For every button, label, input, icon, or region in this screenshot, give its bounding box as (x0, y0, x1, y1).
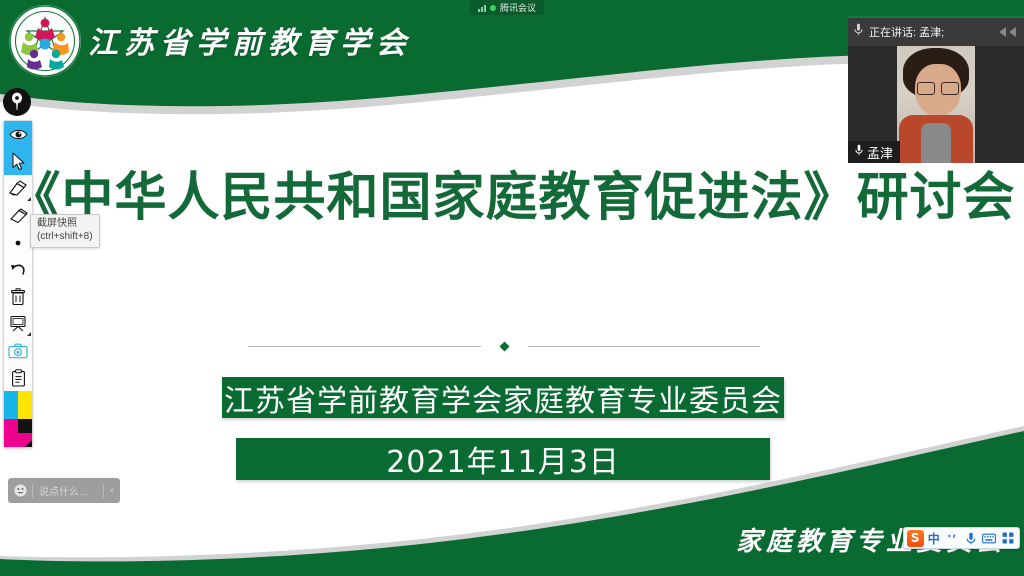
tencent-meeting-label: 腾讯会议 (500, 1, 536, 14)
speaking-now-label: 正在讲话: 孟津; (869, 24, 944, 40)
color-swatch-yellow[interactable] (18, 391, 32, 419)
double-chevron-left-icon[interactable] (996, 26, 1018, 38)
highlighter-pen-icon[interactable] (4, 175, 32, 202)
smiley-face-icon[interactable] (8, 478, 32, 503)
participant-name: 孟津 (867, 143, 893, 162)
color-swatch-cyan[interactable] (4, 391, 18, 419)
voice-input-icon[interactable] (963, 529, 980, 547)
sogou-logo-icon[interactable]: S (907, 530, 924, 547)
tencent-meeting-indicator[interactable]: 腾讯会议 (470, 0, 544, 15)
annotation-toolbar[interactable] (3, 120, 33, 448)
tooltip-title: 截屏快照 (37, 218, 93, 231)
microphone-icon (855, 143, 863, 161)
slide-band-date: 2021年11月3日 (236, 438, 770, 480)
divider-line-right (528, 346, 761, 347)
toolbox-grid-icon[interactable] (1000, 529, 1017, 547)
participant-video-image (897, 46, 975, 163)
signal-bars-icon (478, 4, 486, 12)
screen: 江苏省学前教育学会 《中华人民共和国家庭教育促进法》研讨会 江苏省学前教育学会家… (0, 0, 1024, 576)
palette-expand-corner-icon[interactable] (25, 440, 32, 447)
video-tile-body: 孟津 (848, 46, 1024, 163)
whiteboard-icon[interactable] (4, 310, 32, 337)
ime-mode-toggle[interactable]: 中 (926, 529, 943, 547)
pen-badge-logo-icon[interactable] (3, 88, 31, 116)
participant-name-badge: 孟津 (848, 141, 900, 163)
visibility-eye-icon[interactable] (4, 121, 32, 148)
sogou-ime-toolbar[interactable]: S 中 (903, 527, 1020, 549)
diamond-dot-divider (248, 340, 760, 352)
cursor-arrow-icon[interactable] (4, 148, 32, 175)
punctuation-toggle-icon[interactable] (944, 529, 961, 547)
chat-bar[interactable]: 说点什么... ‹ (8, 478, 120, 503)
undo-arrow-icon[interactable] (4, 256, 32, 283)
chat-input[interactable]: 说点什么... (33, 483, 103, 498)
green-status-dot (490, 5, 496, 11)
color-swatch-magenta-selected[interactable] (4, 419, 32, 447)
slide-org-header: 江苏省学前教育学会 (88, 18, 412, 62)
slide-title: 《中华人民共和国家庭教育促进法》研讨会 (0, 155, 1024, 230)
color-palette[interactable] (4, 391, 32, 447)
microphone-icon (854, 23, 863, 41)
divider-diamond-icon (499, 341, 509, 351)
video-tile-header: 正在讲话: 孟津; (848, 18, 1024, 46)
soft-keyboard-icon[interactable] (981, 529, 998, 547)
trash-can-icon[interactable] (4, 283, 32, 310)
divider-line-left (248, 346, 481, 347)
slide-band-organization: 江苏省学前教育学会家庭教育专业委员会 (222, 377, 784, 418)
chevron-left-icon[interactable]: ‹ (104, 478, 120, 503)
color-swatch-black[interactable] (18, 419, 32, 433)
eraser-icon[interactable] (4, 202, 32, 229)
clipboard-notes-icon[interactable] (4, 364, 32, 391)
tooltip-shortcut: (ctrl+shift+8) (37, 231, 93, 244)
jiangsu-preschool-education-association-logo (8, 4, 82, 78)
video-tile[interactable]: 正在讲话: 孟津; (848, 16, 1024, 163)
dot-point-icon[interactable] (4, 229, 32, 256)
camera-snapshot-icon[interactable] (4, 337, 32, 364)
screenshot-tooltip: 截屏快照 (ctrl+shift+8) (30, 214, 100, 248)
